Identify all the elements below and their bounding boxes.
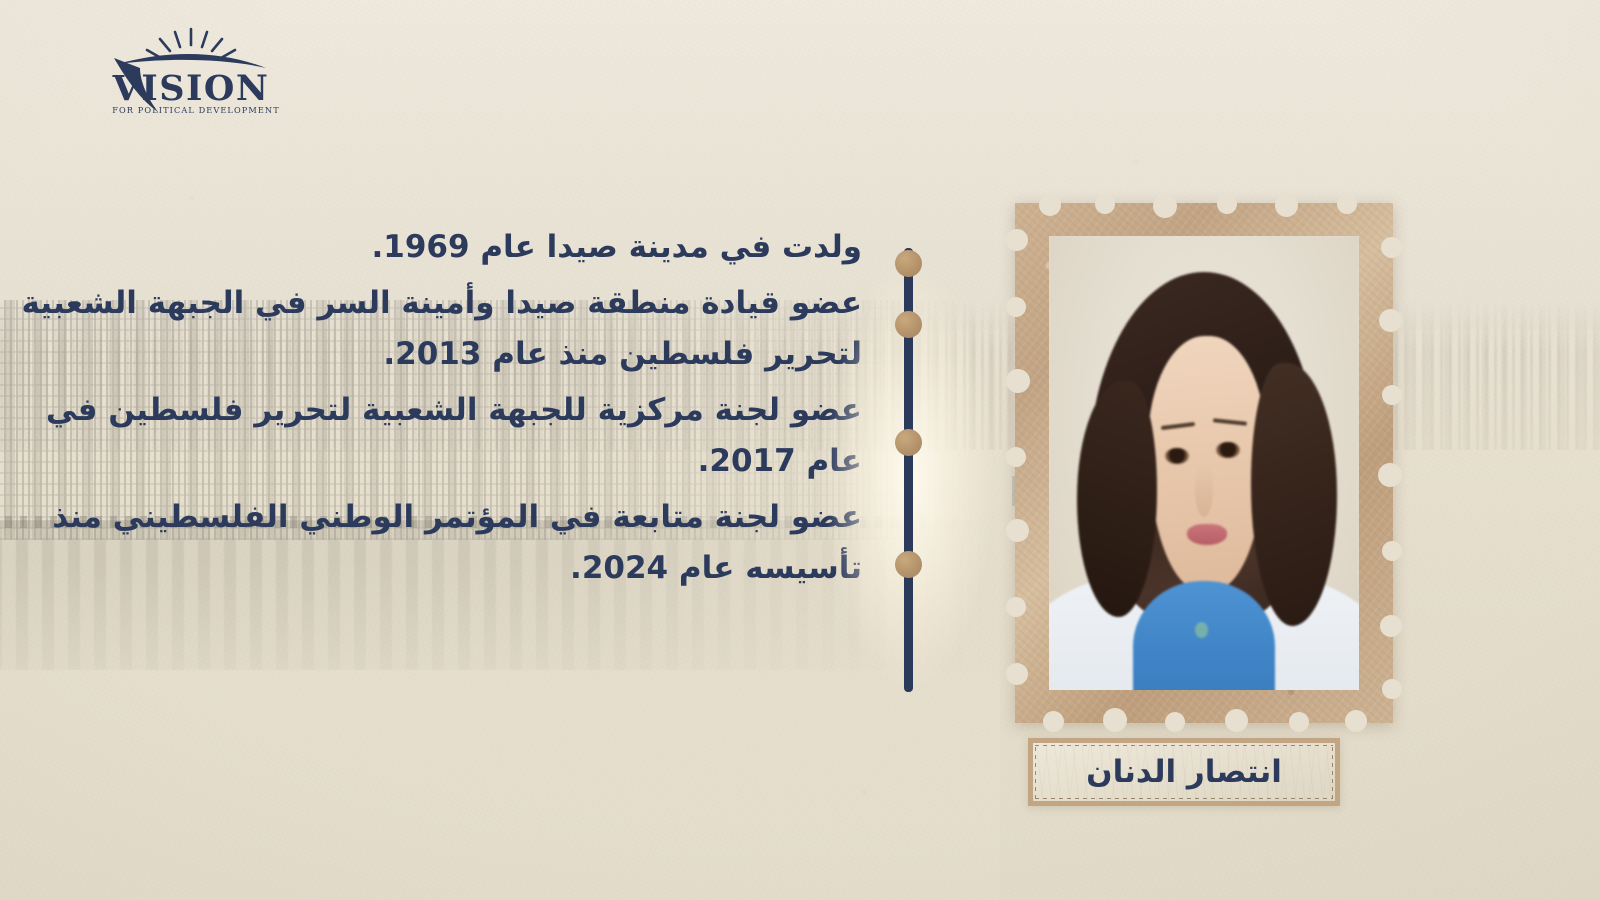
portrait-photo-area <box>1049 236 1359 690</box>
bio-bullet-3: عضو لجنة مركزية للجبهة الشعبية لتحرير فل… <box>0 385 862 487</box>
person-name: انتصار الدنان <box>1086 754 1282 790</box>
logo-arc-icon <box>118 54 266 68</box>
bio-bullet-1: ولدت في مدينة صيدا عام 1969. <box>0 222 862 273</box>
sunburst-rays-icon <box>147 29 235 58</box>
biography-text-block: ولدت في مدينة صيدا عام 1969. عضو قيادة م… <box>0 222 862 599</box>
sunburst-arc-logo-icon: VISION FOR POLITICAL DEVELOPMENT <box>96 24 286 116</box>
portrait-frame <box>1015 203 1393 723</box>
portrait-photo <box>1049 236 1359 690</box>
profile-card-canvas: VISION FOR POLITICAL DEVELOPMENT ولدت في… <box>0 0 1600 900</box>
bio-bullet-4: عضو لجنة متابعة في المؤتمر الوطني الفلسط… <box>0 492 862 594</box>
portrait-eye-right <box>1216 442 1239 458</box>
timeline-dot-1 <box>895 250 922 277</box>
timeline-rail <box>900 246 916 696</box>
name-plaque: انتصار الدنان <box>1028 738 1340 806</box>
timeline-dot-3 <box>895 429 922 456</box>
vision-logo[interactable]: VISION FOR POLITICAL DEVELOPMENT <box>96 24 286 116</box>
bio-bullet-2: عضو قيادة منطقة صيدا وأمينة السر في الجب… <box>0 278 862 380</box>
logo-tagline: FOR POLITICAL DEVELOPMENT <box>112 105 280 115</box>
timeline-dot-4 <box>895 551 922 578</box>
logo-wordmark: VISION <box>112 68 270 109</box>
timeline-dot-2 <box>895 311 922 338</box>
portrait-eye-left <box>1165 448 1188 464</box>
